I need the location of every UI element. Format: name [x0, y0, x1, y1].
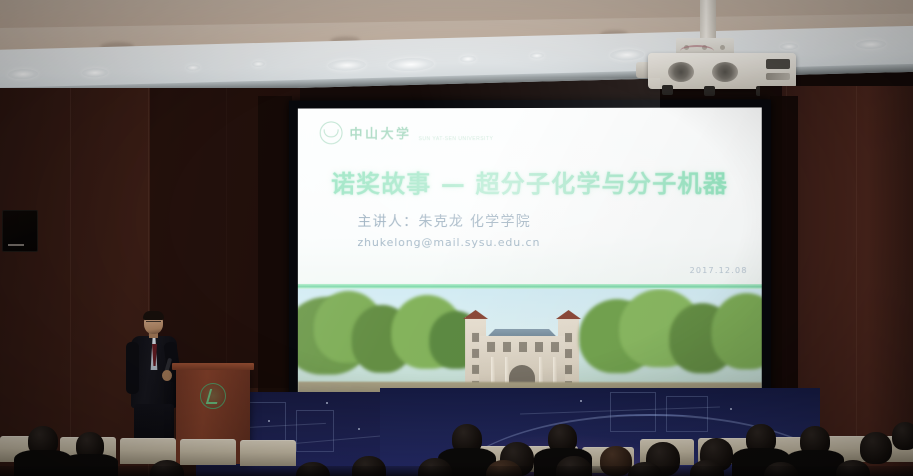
presenter-hand	[162, 370, 172, 381]
wall-gap-shadow	[770, 96, 798, 436]
window	[551, 342, 559, 352]
slide-presenter-line: 主讲人：朱克龙 化学学院	[357, 211, 531, 231]
window	[565, 333, 572, 342]
projector-foot	[704, 86, 715, 96]
university-emblem-icon	[200, 383, 226, 409]
university-seal-icon	[320, 121, 343, 144]
downlight-icon	[530, 52, 544, 58]
projector-foot	[662, 85, 673, 95]
university-logo: 中山大学 SUN YAT-SEN UNIVERSITY	[320, 121, 494, 144]
projector-fan-vent	[668, 62, 694, 82]
glasses-icon	[146, 321, 161, 326]
window	[519, 342, 527, 352]
projector-buttons[interactable]	[766, 73, 790, 80]
projection-screen[interactable]: 中山大学 SUN YAT-SEN UNIVERSITY 诺奖故事 — 超分子化学…	[289, 99, 771, 418]
projector-pole	[700, 0, 716, 42]
window	[535, 342, 543, 352]
auditorium-seat[interactable]	[240, 440, 296, 466]
window	[565, 349, 572, 358]
downlight-icon	[328, 59, 366, 71]
downlight-icon	[388, 57, 434, 71]
wall-gap-shadow	[258, 96, 292, 396]
audience-head	[860, 432, 892, 464]
audience-head	[892, 422, 913, 450]
university-name-cn: 中山大学	[350, 123, 412, 142]
wall-speaker	[2, 210, 38, 252]
backdrop-star	[326, 402, 328, 404]
slide-email: zhukelong@mail.sysu.edu.cn	[357, 236, 540, 249]
window	[503, 342, 511, 352]
window	[487, 342, 495, 352]
downlight-icon	[610, 49, 644, 61]
downlight-icon	[780, 43, 798, 50]
university-name-en: SUN YAT-SEN UNIVERSITY	[419, 136, 494, 144]
downlight-icon	[252, 61, 265, 67]
downlight-icon	[856, 40, 886, 50]
foreground-shadow	[0, 466, 913, 476]
projector-fan-vent	[712, 62, 738, 82]
slide-date: 2017.12.08	[690, 266, 748, 275]
audience-area	[0, 412, 913, 476]
downlight-icon	[460, 55, 476, 62]
downlight-icon	[82, 68, 108, 78]
screen-surface: 中山大学 SUN YAT-SEN UNIVERSITY 诺奖故事 — 超分子化学…	[298, 107, 762, 408]
window	[565, 365, 572, 374]
backdrop-star	[730, 408, 732, 410]
lecture-hall-photo: 中山大学 SUN YAT-SEN UNIVERSITY 诺奖故事 — 超分子化学…	[0, 0, 913, 476]
slide-title: 诺奖故事 — 超分子化学与分子机器	[298, 164, 762, 200]
backdrop-star	[580, 400, 582, 402]
projector-display-panel	[766, 59, 790, 69]
presenter-hair	[143, 311, 164, 320]
window	[472, 365, 479, 374]
window	[472, 333, 479, 342]
auditorium-seat[interactable]	[180, 439, 236, 465]
downlight-icon	[186, 65, 200, 71]
ceiling-projector	[648, 53, 796, 89]
window	[472, 349, 479, 358]
podium-top-surface	[172, 363, 254, 370]
bracket-bolt	[720, 45, 725, 50]
downlight-icon	[8, 69, 38, 80]
presenter-arm-left	[126, 342, 139, 394]
